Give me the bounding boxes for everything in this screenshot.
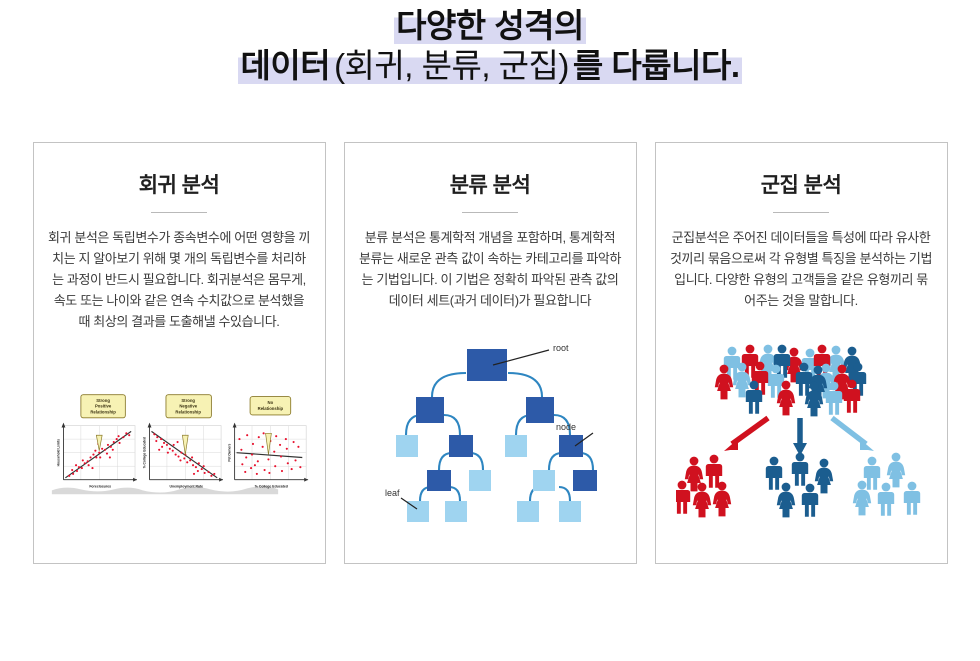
tree-label-node: node [556,422,576,432]
tree-node [427,470,451,491]
tree-leaf [396,435,418,457]
card-classification: 분류 분석 분류 분석은 통계학적 개념을 포함하며, 통계학적 분류는 새로운… [344,142,637,564]
title-line-2: 데이터(회귀, 분류, 군집)를 다룹니다. [0,46,980,86]
svg-text:Strong: Strong [96,398,110,403]
tree-leaf [445,501,467,522]
tree-node [449,435,473,457]
card-clustering-divider [773,212,829,213]
card-regression-body: 회귀 분석은 독립변수가 종속변수에 어떤 영향을 끼치는 지 알아보기 위해 … [48,227,311,332]
scatter-plot-flat: % College Educated Pet Owners No Relatio… [227,397,307,489]
cluster-group-light-blue [853,453,920,516]
card-clustering: 군집 분석 군집분석은 주어진 데이터들을 특성에 따라 유사한 것끼리 묶음으… [655,142,948,564]
title-keyword-data: 데이터 [238,47,332,84]
regression-scatter-plots: Foreclosures Household Limits Strong Pos… [48,332,311,553]
tree-leaf [517,501,539,522]
clustering-people-diagram [670,311,933,553]
card-classification-title: 분류 분석 [450,169,531,199]
analysis-cards-row: 회귀 분석 회귀 분석은 독립변수가 종속변수에 어떤 영향을 끼치는 지 알아… [0,142,980,564]
tree-leaf [533,470,555,491]
title-line-1: 다양한 성격의 [0,6,980,46]
cluster-arrows [724,418,874,456]
svg-text:Relationship: Relationship [90,410,116,415]
tree-node-highlighted [559,435,583,457]
shadow-strip [51,486,277,494]
scatter-plot-negative: Unemployment Rate % College Educated Str… [142,395,222,489]
tree-leaf [469,470,491,491]
card-clustering-title: 군집 분석 [761,169,842,199]
tree-label-leaf: leaf [385,488,400,498]
title-keyword-types: (회귀, 분류, 군집) [332,47,571,84]
tree-node [416,397,444,423]
card-regression-divider [151,212,207,213]
mixed-crowd [715,345,866,417]
plot3-xlabel: % College Educated [254,485,287,489]
plot1-xlabel: Foreclosures [89,485,111,489]
tree-label-root: root [553,343,569,353]
svg-text:Negative: Negative [179,404,197,409]
card-regression: 회귀 분석 회귀 분석은 독립변수가 종속변수에 어떤 영향을 끼치는 지 알아… [33,142,326,564]
scatter-plot-positive: Foreclosures Household Limits Strong Pos… [56,395,136,489]
tree-leaf [559,501,581,522]
plot2-ylabel: % College Educated [142,437,146,468]
card-classification-divider [462,212,518,213]
card-clustering-body: 군집분석은 주어진 데이터들을 특성에 따라 유사한 것끼리 묶음으로써 각 유… [670,227,933,311]
tree-leaf [505,435,527,457]
plot3-ylabel: Pet Owners [227,444,231,462]
tree-root-node [467,349,507,381]
tree-node [526,397,554,423]
svg-text:Relationship: Relationship [257,406,283,411]
card-classification-body: 분류 분석은 통계학적 개념을 포함하며, 통계학적 분류는 새로운 관측 값이… [359,227,622,311]
title-line-1-text: 다양한 성격의 [394,7,586,44]
svg-text:Strong: Strong [181,398,195,403]
plot1-ylabel: Household Limits [56,439,60,467]
svg-text:Positive: Positive [94,404,111,409]
title-suffix: 를 다룹니다. [571,47,742,84]
tree-node [573,470,597,491]
cluster-group-red [676,455,731,518]
decision-tree-diagram: root node leaf [359,311,622,553]
svg-text:Relationship: Relationship [175,410,201,415]
svg-text:No: No [267,400,273,405]
plot2-xlabel: Unemployment Rate [169,485,203,489]
slide-title: 다양한 성격의 데이터(회귀, 분류, 군집)를 다룹니다. [0,0,980,87]
card-regression-title: 회귀 분석 [139,169,220,199]
cluster-group-dark-blue [766,453,833,518]
